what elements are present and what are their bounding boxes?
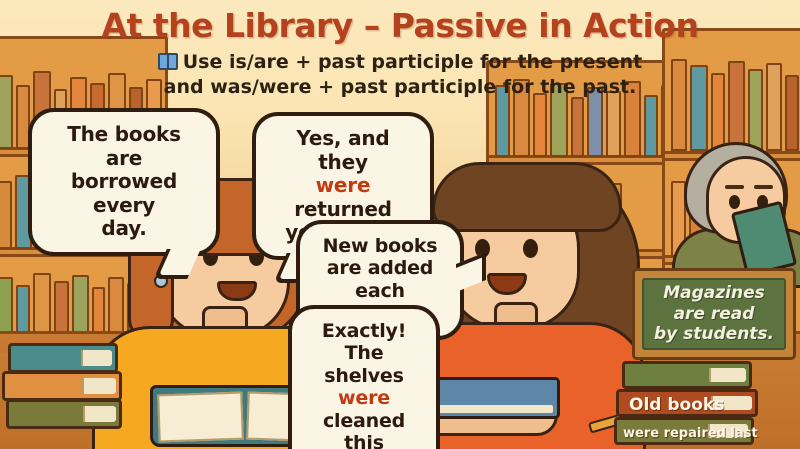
bubble-4-highlight: were [338, 387, 390, 409]
bubble-1-line-1: The books are [48, 123, 200, 170]
closed-blue-book [428, 377, 560, 419]
chalkboard-surface: Magazines are read by students. [642, 278, 786, 350]
librarian-character [662, 142, 800, 272]
library-illustration: Old books were repaired last Magazines a… [0, 0, 800, 449]
book-stack-right: Old books were repaired last [614, 359, 764, 445]
book-stack-left [2, 339, 122, 431]
book-label-bottom: were repaired last [623, 426, 758, 441]
chalkboard-sign: Magazines are read by students. [632, 268, 796, 360]
bubble-3-line-1: New books [316, 235, 444, 257]
subtitle-line-1: Use is/are + past participle for the pre… [0, 50, 800, 75]
bubble-4-line-4: this morning. [308, 432, 420, 449]
bubble-2-line-1: Yes, and they [272, 127, 414, 174]
subtitle-block: Use is/are + past participle for the pre… [0, 50, 800, 99]
subtitle-line-2: and was/were + past participle for the p… [0, 75, 800, 100]
sign-line-2: are read [654, 304, 774, 324]
sign-line-3: by students. [654, 324, 774, 344]
bubble-4-line-2: The shelves [308, 342, 420, 387]
open-book-icon [158, 53, 178, 70]
speech-bubble-4: Exactly! The shelves were cleaned this m… [288, 305, 440, 449]
page-title: At the Library – Passive in Action [0, 6, 800, 45]
bubble-4-line-3-rest: cleaned [323, 410, 405, 432]
bubble-2-highlight: were [316, 173, 371, 197]
bubble-4-line-1: Exactly! [308, 320, 420, 342]
bubble-1-line-2: borrowed every [48, 170, 200, 217]
bubble-1-line-3: day. [48, 217, 200, 241]
student-right-hair-front [432, 162, 622, 232]
bubble-2-line-2-rest: returned [294, 197, 392, 221]
subtitle-line-1-text: Use is/are + past participle for the pre… [183, 51, 643, 73]
bubble-2-line-2: were returned [272, 174, 414, 221]
book-label-top: Old books [629, 395, 724, 415]
bubble-4-line-3: were cleaned [308, 387, 420, 432]
bubble-3-line-2: are added [316, 257, 444, 279]
speech-bubble-1: The books are borrowed every day. [28, 108, 220, 256]
sign-line-1: Magazines [654, 283, 774, 303]
